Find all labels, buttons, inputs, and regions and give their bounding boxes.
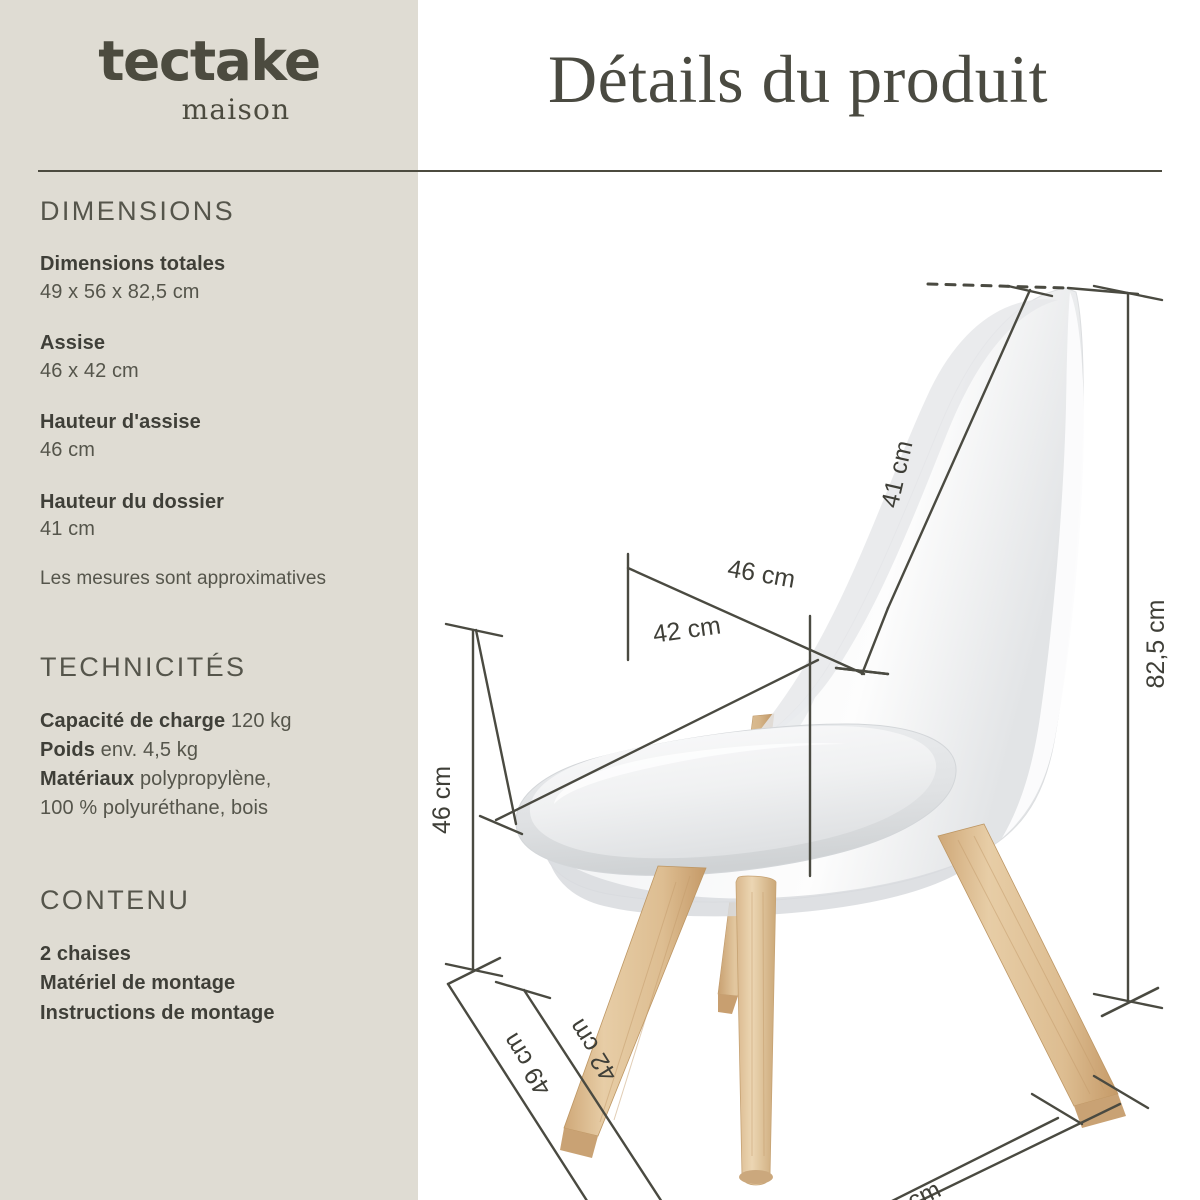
content-item: Matériel de montage xyxy=(40,969,396,999)
dim-label-total-height: 82,5 cm xyxy=(1142,600,1170,689)
spec-label: Poids xyxy=(40,739,95,761)
spec-row-materials: Matériaux polypropylène, xyxy=(40,765,396,794)
product-detail-sheet: tectake maison Détails du produit DIMENS… xyxy=(0,0,1200,1200)
chair-illustration: 82,5 cm 46 cm 41 cm 46 cm 42 cm 49 cm 42… xyxy=(418,176,1200,1200)
content-item: Instructions de montage xyxy=(40,999,396,1029)
measurement-disclaimer: Les mesures sont approximatives xyxy=(40,568,396,590)
content-item: 2 chaises xyxy=(40,940,396,970)
spec-row-weight: Poids env. 4,5 kg xyxy=(40,736,396,765)
spec-list: Capacité de charge 120 kg Poids env. 4,5… xyxy=(40,707,396,823)
spec-value: 100 % polyuréthane, bois xyxy=(40,797,268,819)
dimension-item-backrest-height: Hauteur du dossier 41 cm xyxy=(40,489,396,544)
dim-label-seat-width: 42 cm xyxy=(651,611,722,648)
dimension-value: 46 cm xyxy=(40,437,396,465)
sidebar-content: DIMENSIONS Dimensions totales 49 x 56 x … xyxy=(40,196,396,1029)
dim-seat-height xyxy=(446,624,516,984)
dim-ext-dashed-top xyxy=(928,284,1068,288)
dimension-label: Hauteur du dossier xyxy=(40,489,396,517)
header-divider xyxy=(38,170,1162,172)
dimension-value: 46 x 42 cm xyxy=(40,358,396,386)
section-heading-contenu: CONTENU xyxy=(40,885,396,916)
dimension-label: Assise xyxy=(40,330,396,358)
spec-value: 120 kg xyxy=(231,710,292,732)
spec-row-materials-cont: 100 % polyuréthane, bois xyxy=(40,794,396,823)
dimension-label: Dimensions totales xyxy=(40,251,396,279)
dimension-item-total: Dimensions totales 49 x 56 x 82,5 cm xyxy=(40,251,396,306)
spec-label: Matériaux xyxy=(40,768,134,790)
dimension-item-seat: Assise 46 x 42 cm xyxy=(40,330,396,385)
spec-value: polypropylène, xyxy=(140,768,272,790)
dimension-item-seat-height: Hauteur d'assise 46 cm xyxy=(40,409,396,464)
dim-label-seat-depth: 46 cm xyxy=(725,554,797,593)
spec-label: Capacité de charge xyxy=(40,710,225,732)
spec-value: env. 4,5 kg xyxy=(101,739,198,761)
section-heading-dimensions: DIMENSIONS xyxy=(40,196,396,227)
page-title: Détails du produit xyxy=(418,40,1178,119)
contents-list: 2 chaises Matériel de montage Instructio… xyxy=(40,940,396,1029)
spec-row-load-capacity: Capacité de charge 120 kg xyxy=(40,707,396,736)
dimension-value: 41 cm xyxy=(40,516,396,544)
dimension-label: Hauteur d'assise xyxy=(40,409,396,437)
dim-label-footprint-inner-width: 42 cm xyxy=(872,1175,945,1200)
section-heading-technicites: TECHNICITÉS xyxy=(40,652,396,683)
dim-label-seat-height: 46 cm xyxy=(428,766,456,834)
dimension-value: 49 x 56 x 82,5 cm xyxy=(40,279,396,307)
dim-label-footprint-left: 49 cm xyxy=(497,1028,557,1101)
